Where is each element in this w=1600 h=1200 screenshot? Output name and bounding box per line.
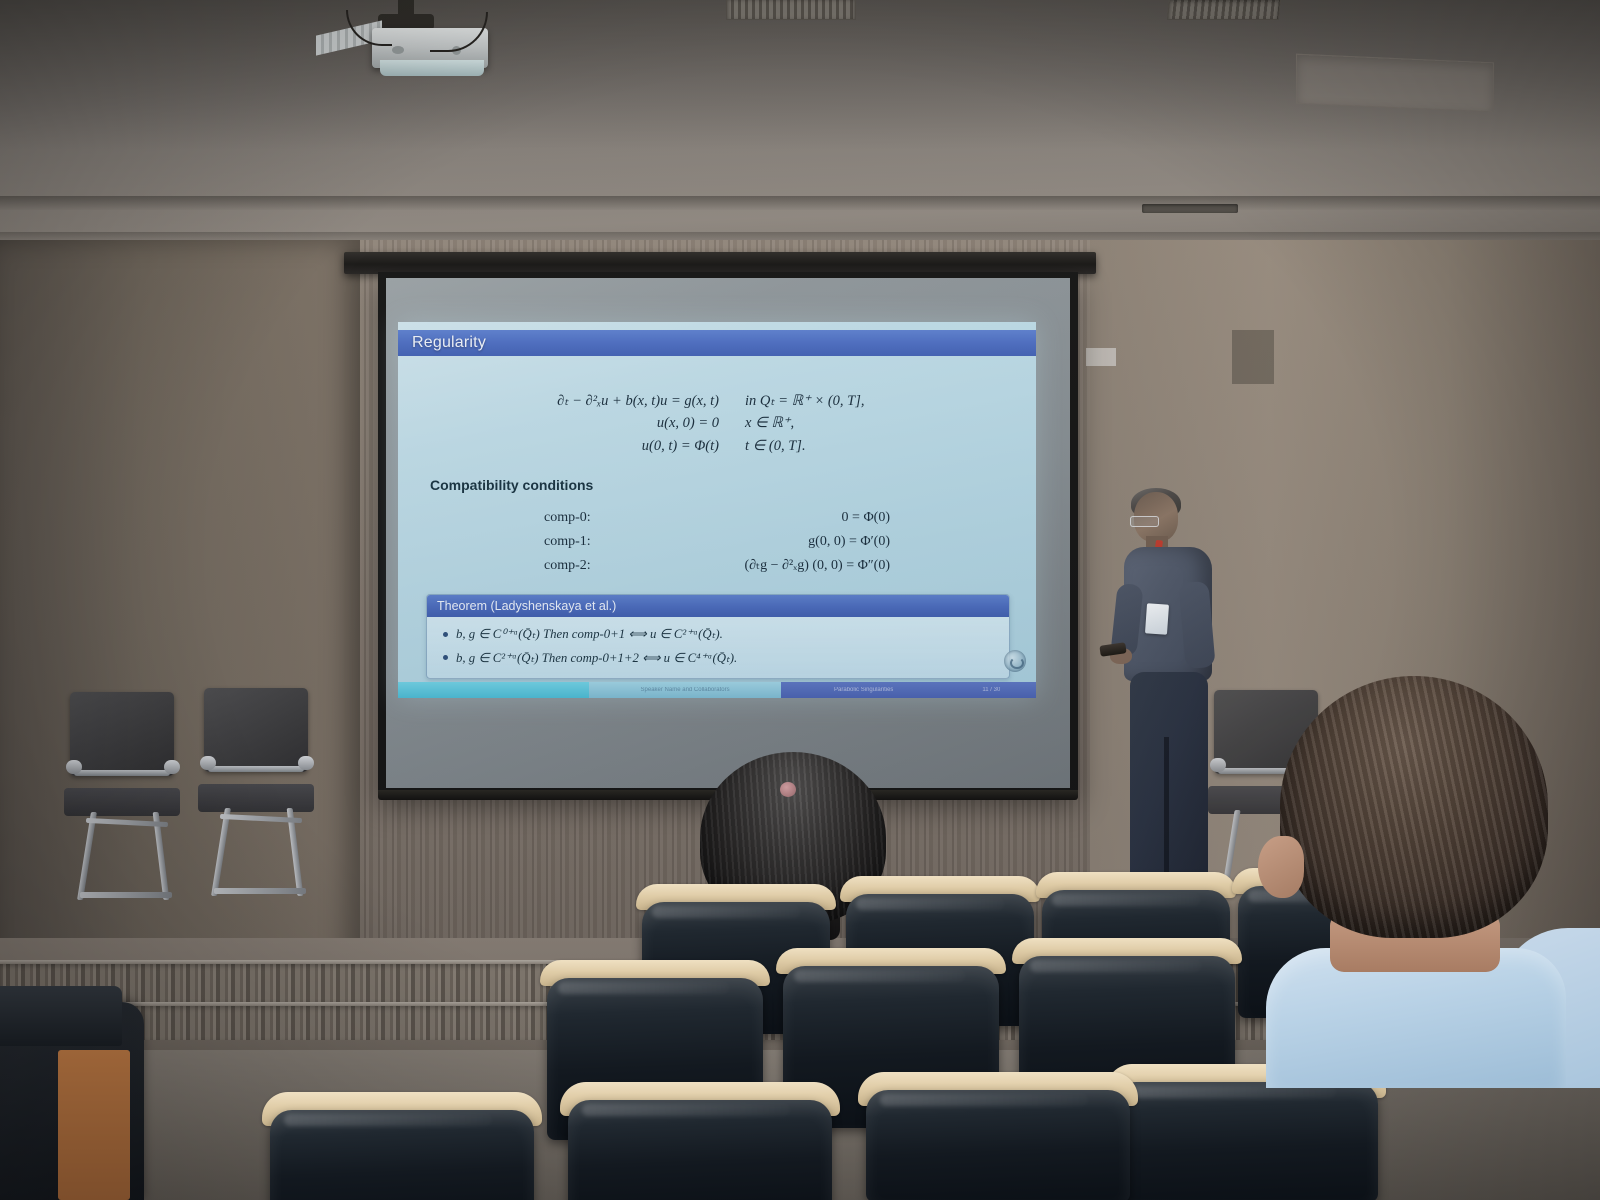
projected-slide: Regularity ∂ₜ − ∂²ₓu + b(x, t)u = g(x, t… xyxy=(398,322,1036,698)
footer-page-cell: 11 / 30 xyxy=(947,682,1036,698)
footer-page-number: 11 / 30 xyxy=(982,687,1000,693)
chair-foot-rail xyxy=(80,892,172,898)
wall-fixture-right xyxy=(1232,330,1274,384)
name-badge xyxy=(1145,603,1169,634)
pde-equation-row: u(x, 0) = 0 x ∈ ℝ⁺, xyxy=(398,412,1036,434)
bullet-icon xyxy=(443,655,448,660)
slide-title: Regularity xyxy=(398,334,486,352)
seat-highlight xyxy=(652,906,800,918)
theorem-box: Theorem (Ladyshenskaya et al.) b, g ∈ C⁰… xyxy=(426,594,1010,679)
auditorium-seat xyxy=(560,1082,840,1200)
empty-chair-left xyxy=(62,692,182,902)
institution-logo-icon xyxy=(1004,650,1026,672)
ceiling-vent-right xyxy=(1167,0,1281,20)
compatibility-row: comp-1: g(0, 0) = Φ′(0) xyxy=(398,530,1036,554)
footer-author-cell: Speaker Name and Collaborators xyxy=(589,682,780,698)
seat-highlight xyxy=(284,1114,491,1126)
footer-talk-title: Parabolic Singularities xyxy=(834,687,893,693)
slide-title-bar: Regularity xyxy=(398,330,1036,356)
seat-armrest xyxy=(0,986,122,1046)
pde-initial-condition-rhs: x ∈ ℝ⁺, xyxy=(745,412,925,434)
compatibility-equation: 0 = Φ(0) xyxy=(640,506,890,530)
screen-housing xyxy=(344,252,1096,274)
projector-lens-plate xyxy=(380,60,484,76)
empty-chair-right xyxy=(196,688,316,898)
chair-leg-front xyxy=(77,812,97,900)
compatibility-label: comp-1: xyxy=(544,530,640,554)
compatibility-equation: (∂ₜg − ∂²ₓg) (0, 0) = Φ″(0) xyxy=(640,554,890,578)
seat-highlight xyxy=(794,970,964,982)
chair-arm-cap-left xyxy=(1210,758,1226,772)
lecture-hall-photo: Regularity ∂ₜ − ∂²ₓu + b(x, t)u = g(x, t… xyxy=(0,0,1600,1200)
eyeglasses-icon xyxy=(1130,516,1159,527)
chair-arm-cap-left xyxy=(66,760,82,774)
pde-equation-lhs: ∂ₜ − ∂²ₓu + b(x, t)u = g(x, t) xyxy=(509,390,719,412)
theorem-bullet-item: b, g ∈ C⁰⁺ᵅ(Q̄ₜ) Then comp-0+1 ⟺ u ∈ C²⁺… xyxy=(439,623,997,647)
compatibility-row: comp-2: (∂ₜg − ∂²ₓg) (0, 0) = Φ″(0) xyxy=(398,554,1036,578)
seat-backrest xyxy=(1114,1082,1377,1200)
chair-armrest-bar xyxy=(74,770,170,776)
pde-equation-row: u(0, t) = Φ(t) t ∈ (0, T]. xyxy=(398,435,1036,457)
wall-switch-plate xyxy=(1086,348,1116,366)
bullet-icon xyxy=(443,632,448,637)
auditorium-seat xyxy=(262,1092,542,1200)
theorem-item-text: b, g ∈ C⁰⁺ᵅ(Q̄ₜ) Then comp-0+1 ⟺ u ∈ C²⁺… xyxy=(456,627,723,641)
ceiling-panel-right xyxy=(1296,54,1494,113)
chair-backrest xyxy=(70,692,174,776)
projector-knob-left xyxy=(392,46,404,54)
compatibility-label: comp-2: xyxy=(544,554,640,578)
seat-highlight xyxy=(1052,894,1200,906)
audience-member-right xyxy=(1258,676,1558,1076)
chair-seat xyxy=(64,788,180,816)
compatibility-heading: Compatibility conditions xyxy=(430,477,593,493)
auditorium-seat xyxy=(858,1072,1138,1200)
ceiling-beam xyxy=(0,196,1600,210)
seat-highlight xyxy=(856,898,1004,910)
compatibility-label: comp-0: xyxy=(544,506,640,530)
pde-boundary-condition-lhs: u(0, t) = Φ(t) xyxy=(509,435,719,457)
seat-highlight xyxy=(1030,960,1200,972)
footer-title-cell: Parabolic Singularities xyxy=(781,682,947,698)
chair-backrest xyxy=(204,688,308,772)
seat-backrest xyxy=(866,1090,1129,1200)
seat-armrest-wood xyxy=(58,1050,130,1200)
ceiling-vent-center xyxy=(726,0,856,20)
audience-ear xyxy=(1258,836,1304,898)
seat-highlight xyxy=(558,982,728,994)
chair-arm-cap-left xyxy=(200,756,216,770)
pde-equation-rhs: in Qₜ = ℝ⁺ × (0, T], xyxy=(745,390,925,412)
footer-author: Speaker Name and Collaborators xyxy=(641,687,730,693)
presenter-leg-split xyxy=(1164,737,1169,885)
chair-arm-cap-right xyxy=(298,756,314,770)
theorem-bullet-item: b, g ∈ C²⁺ᵅ(Q̄ₜ) Then comp-0+1+2 ⟺ u ∈ C… xyxy=(439,647,997,671)
compatibility-conditions-list: comp-0: 0 = Φ(0) comp-1: g(0, 0) = Φ′(0)… xyxy=(398,506,1036,578)
theorem-item-text: b, g ∈ C²⁺ᵅ(Q̄ₜ) Then comp-0+1+2 ⟺ u ∈ C… xyxy=(456,651,737,665)
chair-seat xyxy=(198,784,314,812)
footer-accent-left xyxy=(398,682,589,698)
chair-foot-rail xyxy=(214,888,306,894)
pde-boundary-condition-rhs: t ∈ (0, T]. xyxy=(745,435,925,457)
chair-leg-front xyxy=(211,808,231,896)
chair-armrest-bar xyxy=(208,766,304,772)
hair-tie xyxy=(780,782,796,797)
theorem-heading: Theorem (Ladyshenskaya et al.) xyxy=(427,595,1009,617)
presenter-legs xyxy=(1130,672,1208,884)
compatibility-equation: g(0, 0) = Φ′(0) xyxy=(640,530,890,554)
pde-equation-row: ∂ₜ − ∂²ₓu + b(x, t)u = g(x, t) in Qₜ = ℝ… xyxy=(398,390,1036,412)
theorem-body: b, g ∈ C⁰⁺ᵅ(Q̄ₜ) Then comp-0+1 ⟺ u ∈ C²⁺… xyxy=(427,617,1009,678)
pde-initial-condition-lhs: u(x, 0) = 0 xyxy=(509,412,719,434)
seat-highlight xyxy=(582,1104,789,1116)
hair-texture xyxy=(1280,676,1548,938)
pde-system: ∂ₜ − ∂²ₓu + b(x, t)u = g(x, t) in Qₜ = ℝ… xyxy=(398,390,1036,457)
seat-highlight xyxy=(880,1094,1087,1106)
ceiling-light-slot xyxy=(1142,204,1238,213)
compatibility-row: comp-0: 0 = Φ(0) xyxy=(398,506,1036,530)
slide-footer: Speaker Name and Collaborators Parabolic… xyxy=(398,682,1036,698)
chair-arm-cap-right xyxy=(164,760,180,774)
